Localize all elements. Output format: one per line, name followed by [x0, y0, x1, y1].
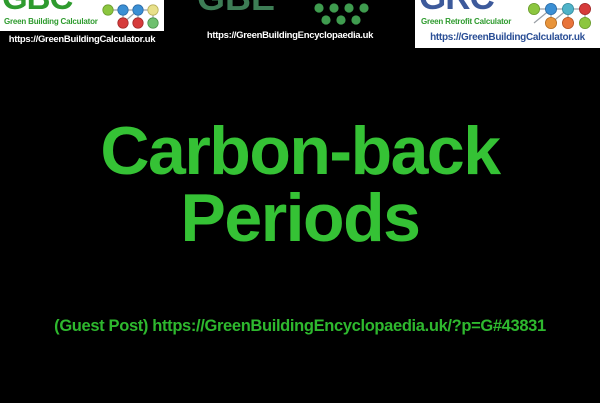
gbe-wordmark: GBE: [197, 0, 275, 16]
grc-url[interactable]: https://GreenBuildingCalculator.uk: [415, 28, 600, 46]
logo-card-gbe[interactable]: GBE https://GreenBuildingEncyclopaedia.u…: [190, 0, 390, 48]
gbc-wordmark: GBC: [2, 0, 72, 14]
gbc-tagline: Green Building Calculator: [4, 17, 98, 26]
gbc-network-dots-icon: [100, 1, 162, 31]
grc-tagline: Green Retrofit Calculator: [421, 17, 511, 26]
logo-card-grc[interactable]: GRC Green Retrofit Calculator https://Gr…: [415, 0, 600, 48]
logo-banner: GBC Green Building Calculator https://Gr…: [0, 0, 600, 48]
guest-post-link[interactable]: (Guest Post) https://GreenBuildingEncycl…: [0, 317, 600, 336]
logo-card-gbc[interactable]: GBC Green Building Calculator https://Gr…: [0, 0, 164, 48]
gbe-url[interactable]: https://GreenBuildingEncyclopaedia.uk: [190, 27, 390, 43]
grc-network-dots-icon: [525, 0, 597, 30]
gbc-url[interactable]: https://GreenBuildingCalculator.uk: [0, 31, 164, 48]
page-title: Carbon-back Periods: [0, 118, 600, 251]
grc-wordmark: GRC: [419, 0, 494, 15]
gbe-dots-icon: [312, 1, 372, 29]
